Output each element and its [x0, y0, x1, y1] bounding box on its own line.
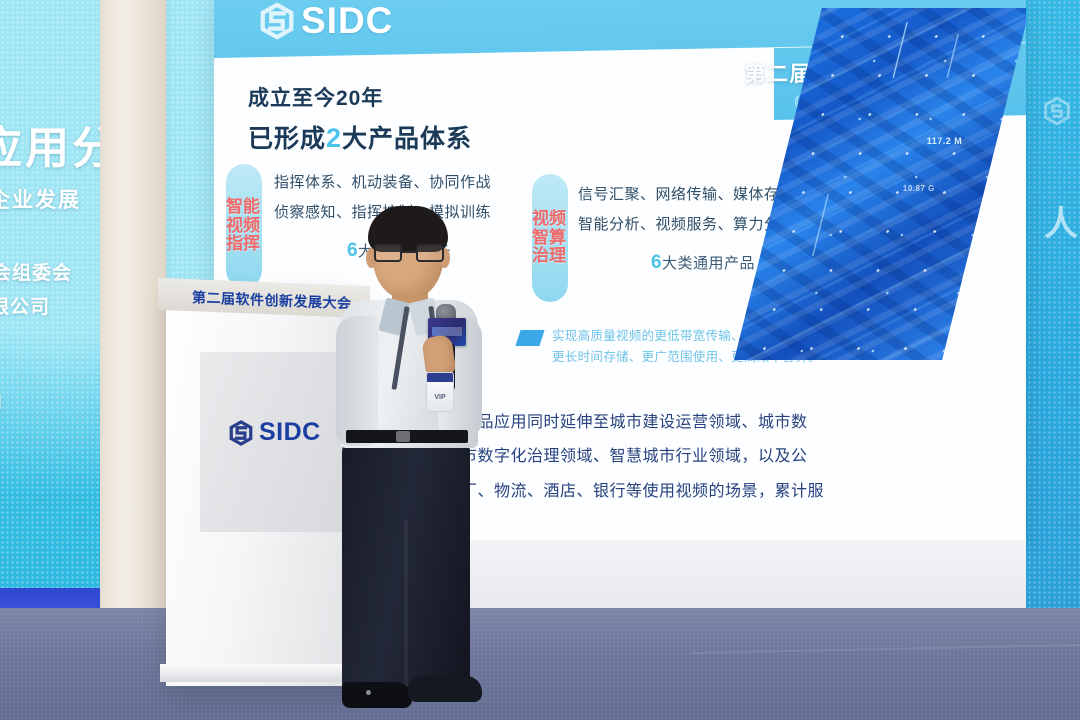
headline-suffix: 大产品体系 [342, 125, 472, 153]
photo-stage: 应用分会 件企业发展 大会组委会 有限公司 日 ·⟩⟩ 人 [0, 0, 1080, 720]
sidc-brand-logo: SIDC [258, 0, 393, 42]
headline-prefix: 已形成 [248, 125, 326, 153]
column-pill-left-label: 智能视频指挥 [226, 198, 262, 253]
hall-pillar [100, 0, 166, 700]
left-backdrop-date: 日 [0, 388, 6, 413]
headline-number: 2 [326, 123, 342, 153]
sidc-hex-icon [258, 2, 296, 40]
column-pill-right: 视频智算治理 [532, 174, 568, 302]
right-backdrop-char: 人 [1044, 196, 1078, 245]
parallelogram-bullet-icon [515, 330, 544, 346]
eyeglasses-icon [374, 244, 444, 264]
podium-logo: SIDC [228, 418, 321, 447]
column-pill-right-label: 视频智算治理 [532, 210, 568, 265]
headline-line1: 成立至今20年 [248, 82, 472, 112]
eyeglass-lens-left [374, 244, 402, 262]
column-pill-left: 智能视频指挥 [226, 164, 262, 288]
eyeglass-bridge [402, 251, 416, 253]
right-backdrop-panel: 人 [1022, 0, 1080, 610]
sidc-wordmark: SIDC [301, 0, 393, 42]
badge-header-strip [427, 373, 453, 382]
speaker-belt-buckle [396, 431, 410, 442]
sidc-logo-right [1042, 96, 1072, 131]
speaker-arm-left [336, 316, 378, 446]
podium-banner-text: 第二届软件创新发展大会 [192, 287, 352, 313]
slide-headline: 成立至今20年 已形成2大产品体系 [248, 82, 472, 155]
speaker-badge: VIP [426, 372, 454, 412]
column-right-count-number: 6 [651, 252, 662, 273]
speaker-shoe-right [408, 676, 482, 702]
left-backdrop-subtitle: 件企业发展 [0, 184, 81, 214]
headline-line2: 已形成2大产品体系 [248, 119, 472, 155]
podium-base [160, 664, 368, 682]
iso-graphic-tag-2: 10.87 G [903, 184, 935, 193]
column-left-line1: 指挥体系、机动装备、协同作战 [274, 168, 524, 198]
badge-label: VIP [427, 394, 453, 401]
speaker-leg-split [404, 520, 408, 690]
left-backdrop-org-line1: 大会组委会 [0, 258, 72, 285]
sidc-hex-logo [228, 420, 254, 446]
eyeglass-lens-right [416, 244, 444, 262]
podium-logo-text: SIDC [259, 418, 321, 447]
column-left-count-number: 6 [347, 240, 358, 261]
left-backdrop-org-line2: 有限公司 [0, 292, 50, 319]
column-right-count-label: 大类通用产品 [662, 255, 755, 272]
speaker-shoe-left [342, 682, 412, 708]
iso-graphic-tag-1: 117.2 M [927, 136, 963, 146]
dot-matrix-texture-right [1022, 0, 1080, 610]
